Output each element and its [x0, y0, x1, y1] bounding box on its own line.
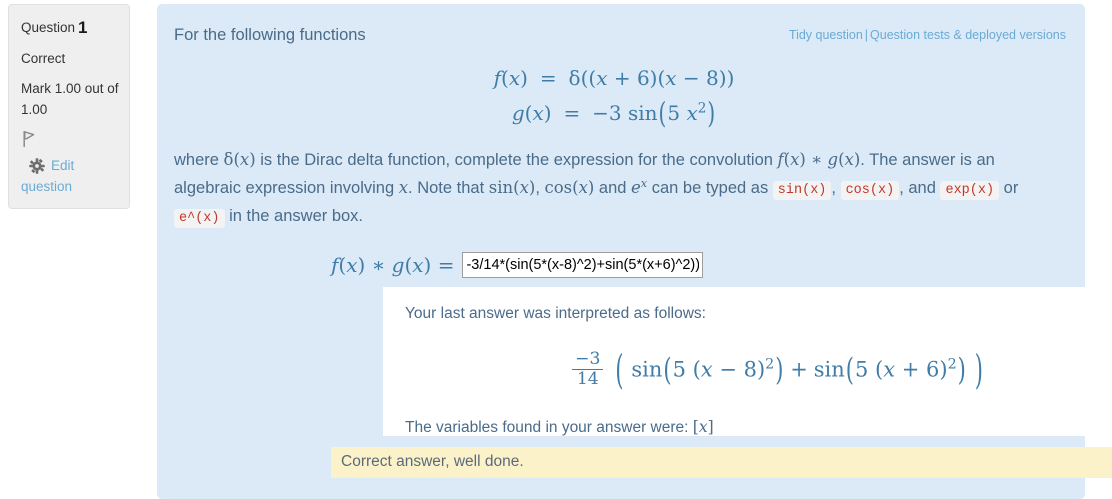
answer-interpretation-panel: Your last answer was interpreted as foll… [383, 287, 1112, 436]
question-review-page: Question1 Correct Mark 1.00 out of 1.00 [0, 0, 1112, 491]
fraction-minus-three-over-fourteen: −3 14 [572, 350, 603, 390]
body-text-1: where [174, 151, 224, 169]
answer-row: f(x) ∗ g(x) = [331, 252, 703, 278]
body-text-5: and [594, 179, 631, 197]
feedback-bar: Correct answer, well done. [331, 447, 1112, 478]
code-sin: sin(x) [773, 181, 832, 200]
flag-question-button[interactable] [21, 128, 119, 152]
answer-input[interactable] [462, 252, 703, 278]
question-panel: Tidy question|Question tests & deployed … [157, 4, 1085, 499]
cos-math: cos(x) [544, 178, 594, 197]
interpretation-variables: The variables found in your answer were:… [405, 418, 1112, 437]
delta-function-math: δ(x) [224, 150, 256, 169]
variables-label: The variables found in your answer were: [405, 419, 688, 436]
code-exp: exp(x) [940, 181, 999, 200]
question-lead: For the following functions [174, 23, 1054, 49]
variable-x-math: x [399, 178, 408, 197]
body-text-6: can be typed as [647, 179, 773, 197]
question-label: Question [21, 20, 75, 35]
question-text: For the following functions f(x) = δ((x … [174, 23, 1054, 231]
edit-question-row[interactable]: Edit question [21, 156, 119, 198]
exponential-math: ex [631, 178, 647, 197]
question-number: 1 [78, 18, 87, 37]
body-text-4: . Note that [408, 179, 489, 197]
variables-value: [x] [693, 418, 714, 436]
question-info-panel: Question1 Correct Mark 1.00 out of 1.00 [8, 4, 130, 209]
gear-icon [29, 158, 45, 174]
feedback-message: Correct answer, well done. [341, 453, 524, 470]
answer-label: f(x) ∗ g(x) = [331, 253, 454, 278]
formula-operator: + [790, 358, 808, 382]
open-paren-2: ( [846, 352, 854, 387]
question-body: where δ(x) is the Dirac delta function, … [174, 146, 1054, 231]
body-text-2: is the Dirac delta function, complete th… [256, 151, 778, 169]
close-paren-2: ) [958, 352, 966, 387]
body-text-8: in the answer box. [225, 207, 364, 225]
code-cos: cos(x) [841, 181, 900, 200]
fraction-numerator: −3 [572, 350, 603, 369]
interpretation-formula: −3 14 ( sin(5 (x − 8)2) + sin(5 (x + 6)2… [399, 350, 1112, 390]
interpretation-heading: Your last answer was interpreted as foll… [405, 305, 1112, 323]
function-definitions: f(x) = δ((x + 6)(x − 8)) g(x) = −3 sin(5… [174, 63, 1054, 130]
body-comma-2: , [831, 179, 840, 197]
equation-f: f(x) = δ((x + 6)(x − 8)) [174, 63, 1054, 95]
sin-math: sin(x) [489, 178, 536, 197]
question-grade: Mark 1.00 out of 1.00 [21, 79, 119, 121]
question-number-row: Question1 [21, 15, 119, 41]
open-paren-1: ( [663, 352, 671, 387]
sin-term-1: sin [631, 358, 662, 382]
close-paren-outer: ) [975, 347, 983, 393]
close-paren-1: ) [775, 352, 783, 387]
flag-icon [21, 130, 119, 148]
fraction-denominator: 14 [572, 369, 603, 389]
sin-term-2: sin [814, 358, 845, 382]
question-state: Correct [21, 49, 119, 70]
code-e-caret: e^(x) [174, 209, 225, 228]
convolution-math: f(x) ∗ g(x) [778, 150, 861, 169]
equation-g: g(x) = −3 sin(5 x2) [174, 98, 1054, 130]
body-text-7: , and [899, 179, 940, 197]
body-or: or [999, 179, 1018, 197]
open-paren-outer: ( [615, 347, 623, 393]
